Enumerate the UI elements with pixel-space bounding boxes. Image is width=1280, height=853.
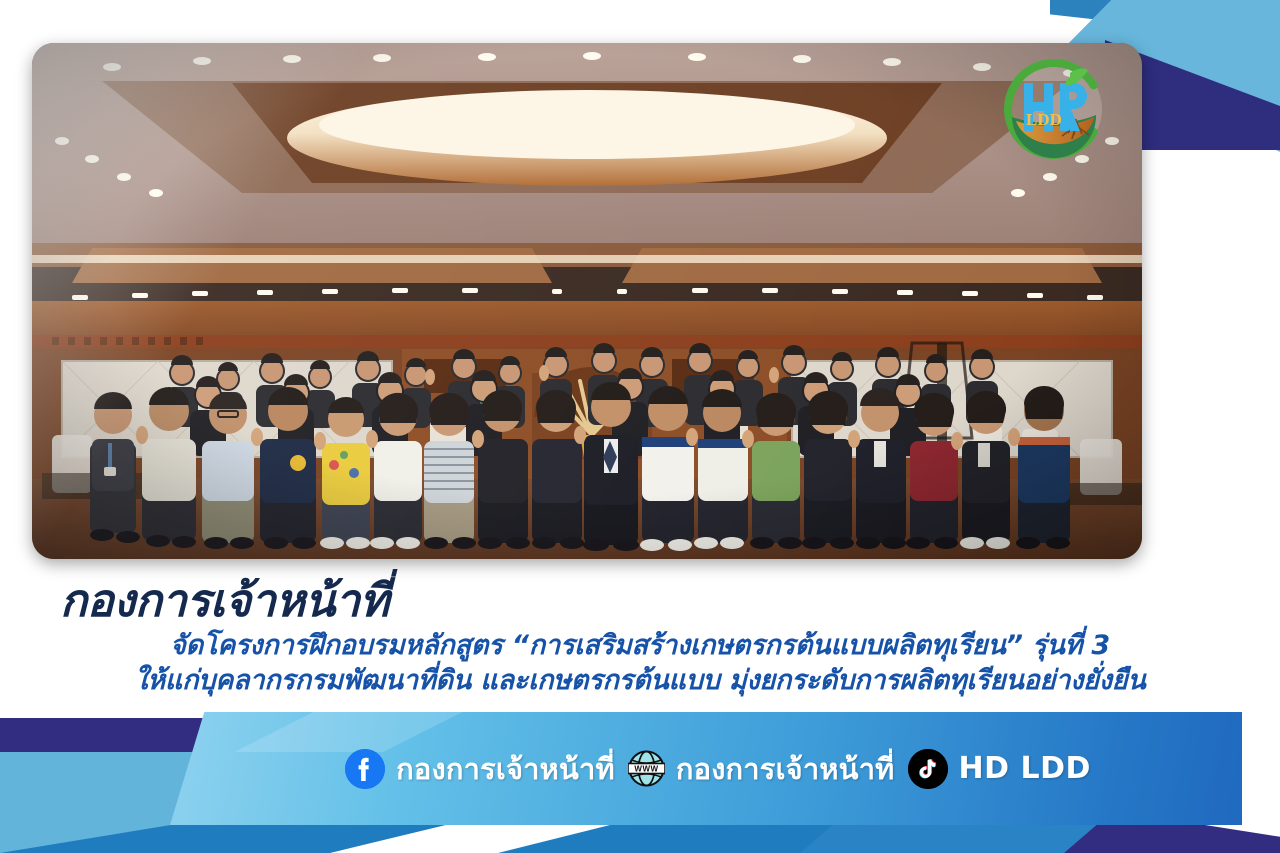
headline-block: กองการเจ้าหน้าที่ จัดโครงการฝึกอบรมหลักส… [0,578,1280,698]
facebook-icon[interactable] [345,749,385,789]
hr-ldd-logo-mark: LDD [1000,55,1108,163]
social-footer-band: กองการเจ้าหน้าที่ WWW กองการเจ้าหน้าที่ [170,712,1242,825]
headline-line-2: จัดโครงการฝึกอบรมหลักสูตร “การเสริมสร้าง… [0,623,1280,664]
facebook-label: กองการเจ้าหน้าที่ [396,746,615,792]
tiktok-icon[interactable] [908,749,948,789]
group-photo-illustration [32,43,1142,559]
page-title: กองการเจ้าหน้าที่ [0,578,1280,623]
social-tiktok[interactable]: HD LDD [908,749,1091,789]
decor-bottom-right-slash [800,822,1100,853]
social-website[interactable]: WWW กองการเจ้าหน้าที่ [628,746,895,792]
website-label: กองการเจ้าหน้าที่ [676,746,895,792]
social-facebook[interactable]: กองการเจ้าหน้าที่ [345,746,615,792]
tiktok-label: HD LDD [959,751,1091,786]
website-globe-icon[interactable]: WWW [628,750,665,787]
logo-ldd-text: LDD [1026,110,1062,129]
svg-text:WWW: WWW [634,764,658,773]
poster-canvas: LDD กองการเจ้าหน้าที่ จัดโครงการฝึกอบรมห… [0,0,1280,853]
hr-ldd-logo: LDD [1000,55,1108,163]
headline-line-3: ให้แก่บุคลากรกรมพัฒนาที่ดิน และเกษตรกรต้… [0,664,1280,699]
group-photo [32,43,1142,559]
